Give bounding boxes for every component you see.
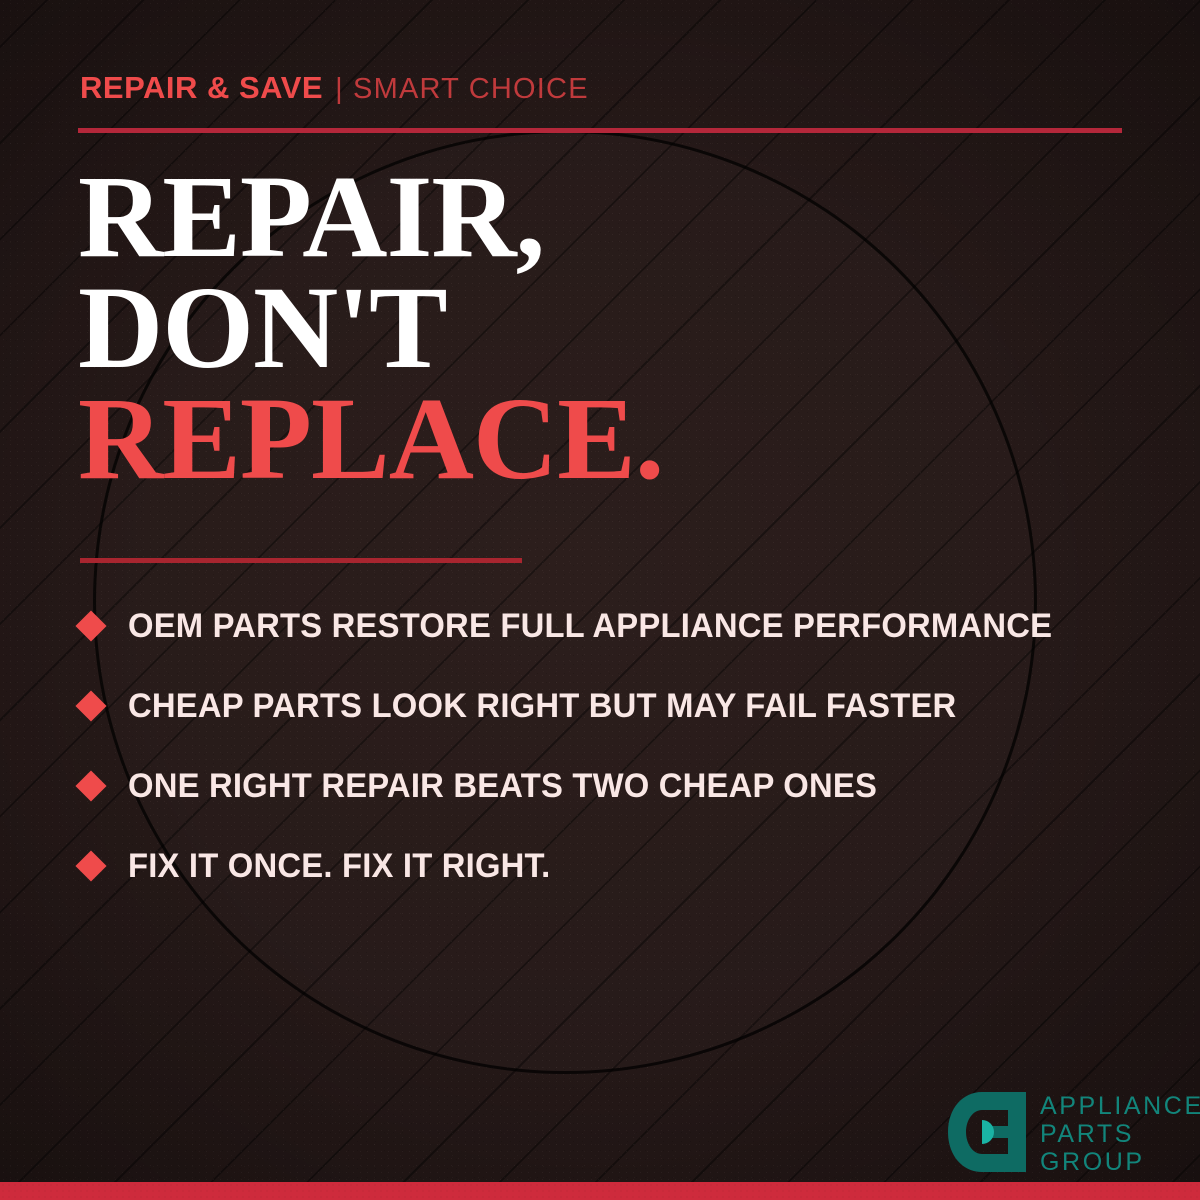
middle-divider-rule — [80, 558, 522, 563]
diamond-bullet-icon — [75, 770, 106, 801]
diamond-bullet-icon — [75, 610, 106, 641]
g-monogram-icon — [948, 1092, 1026, 1172]
eyebrow: REPAIR & SAVE| SMART CHOICE — [80, 72, 589, 104]
top-divider-rule — [78, 128, 1122, 133]
page-title: REPAIR, DON'T REPLACE. — [78, 162, 663, 495]
brand-logo-wordmark: APPLIANCE PARTS GROUP — [1040, 1092, 1200, 1175]
diamond-bullet-icon — [75, 690, 106, 721]
list-item: FIX IT ONCE. FIX IT RIGHT. — [80, 826, 1140, 906]
bottom-accent-bar-texture — [0, 1182, 1200, 1200]
diamond-bullet-icon — [75, 850, 106, 881]
list-item: CHEAP PARTS LOOK RIGHT BUT MAY FAIL FAST… — [80, 666, 1140, 746]
list-item: OEM PARTS RESTORE FULL APPLIANCE PERFORM… — [80, 586, 1140, 666]
headline-line-1: REPAIR, — [78, 162, 663, 273]
list-item-label: ONE RIGHT REPAIR BEATS TWO CHEAP ONES — [128, 767, 877, 806]
headline-line-3: REPLACE. — [78, 384, 663, 495]
brand-logo-line-1: APPLIANCE — [1040, 1094, 1200, 1119]
bottom-accent-bar — [0, 1182, 1200, 1200]
poster-content: REPAIR & SAVE| SMART CHOICE REPAIR, DON'… — [0, 0, 1200, 1200]
list-item-label: CHEAP PARTS LOOK RIGHT BUT MAY FAIL FAST… — [128, 687, 956, 726]
list-item-label: OEM PARTS RESTORE FULL APPLIANCE PERFORM… — [128, 607, 1052, 646]
benefits-list: OEM PARTS RESTORE FULL APPLIANCE PERFORM… — [80, 586, 1140, 906]
list-item-label: FIX IT ONCE. FIX IT RIGHT. — [128, 847, 550, 886]
poster-canvas: REPAIR & SAVE| SMART CHOICE REPAIR, DON'… — [0, 0, 1200, 1200]
brand-logo-line-2: PARTS — [1040, 1122, 1200, 1147]
eyebrow-main-label: REPAIR & SAVE — [80, 70, 323, 105]
eyebrow-sub-label: | SMART CHOICE — [335, 73, 589, 105]
headline-line-2: DON'T — [78, 273, 663, 384]
brand-logo: APPLIANCE PARTS GROUP — [948, 1092, 1200, 1175]
list-item: ONE RIGHT REPAIR BEATS TWO CHEAP ONES — [80, 746, 1140, 826]
brand-logo-line-3: GROUP — [1040, 1150, 1200, 1175]
